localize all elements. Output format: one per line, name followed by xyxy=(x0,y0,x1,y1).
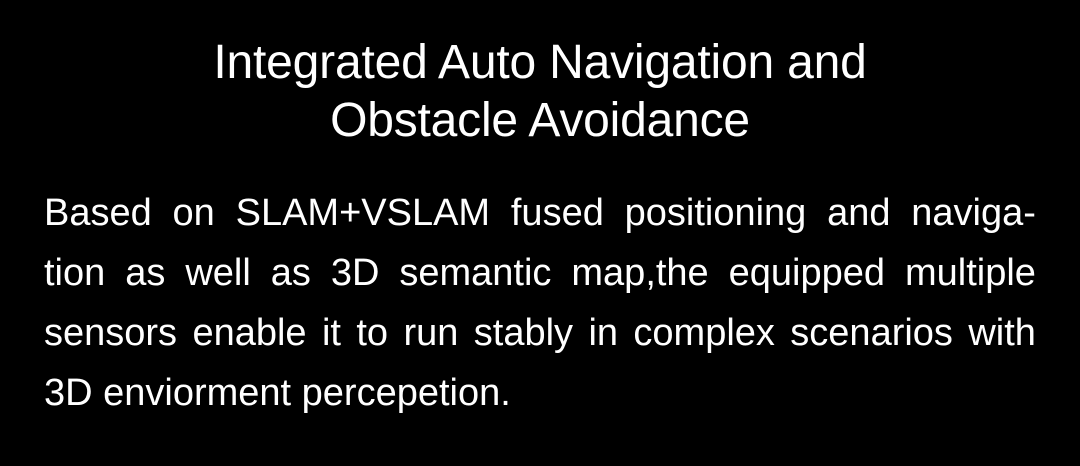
body-line-2: tion as well as 3D semantic map,the equi… xyxy=(44,243,1036,303)
slide-body-paragraph: Based on SLAM+VSLAM fused positioning an… xyxy=(44,183,1036,423)
body-word: enable xyxy=(192,303,306,363)
body-word: sensors xyxy=(44,303,177,363)
body-word: well xyxy=(185,243,250,303)
body-word: 3D xyxy=(331,243,380,303)
body-word: and xyxy=(827,183,890,243)
body-word: multiple xyxy=(905,243,1036,303)
body-word: with xyxy=(968,303,1036,363)
body-word: stably xyxy=(474,303,573,363)
body-word: positioning xyxy=(625,183,807,243)
body-word: it xyxy=(322,303,341,363)
body-word: scenarios xyxy=(790,303,953,363)
body-word: map,the xyxy=(571,243,708,303)
body-word: run xyxy=(403,303,458,363)
body-word: as xyxy=(125,243,165,303)
body-word: on xyxy=(173,183,215,243)
body-word: tion xyxy=(44,243,105,303)
title-line-2: Obstacle Avoidance xyxy=(0,92,1080,150)
body-word: naviga- xyxy=(911,183,1036,243)
slide-title: Integrated Auto Navigation and Obstacle … xyxy=(0,34,1080,150)
body-line-4: 3D enviorment percepetion. xyxy=(44,363,1036,423)
body-line-3: sensors enable it to run stably in compl… xyxy=(44,303,1036,363)
body-word: equipped xyxy=(729,243,885,303)
body-word: fused xyxy=(511,183,604,243)
body-word: complex xyxy=(633,303,775,363)
body-word: SLAM+VSLAM xyxy=(236,183,491,243)
body-word: as xyxy=(271,243,311,303)
body-line-1: Based on SLAM+VSLAM fused positioning an… xyxy=(44,183,1036,243)
title-line-1: Integrated Auto Navigation and xyxy=(0,34,1080,92)
body-word: to xyxy=(356,303,388,363)
slide-root: Integrated Auto Navigation and Obstacle … xyxy=(0,0,1080,466)
body-word: in xyxy=(588,303,618,363)
body-word: Based xyxy=(44,183,152,243)
body-word: semantic xyxy=(399,243,551,303)
